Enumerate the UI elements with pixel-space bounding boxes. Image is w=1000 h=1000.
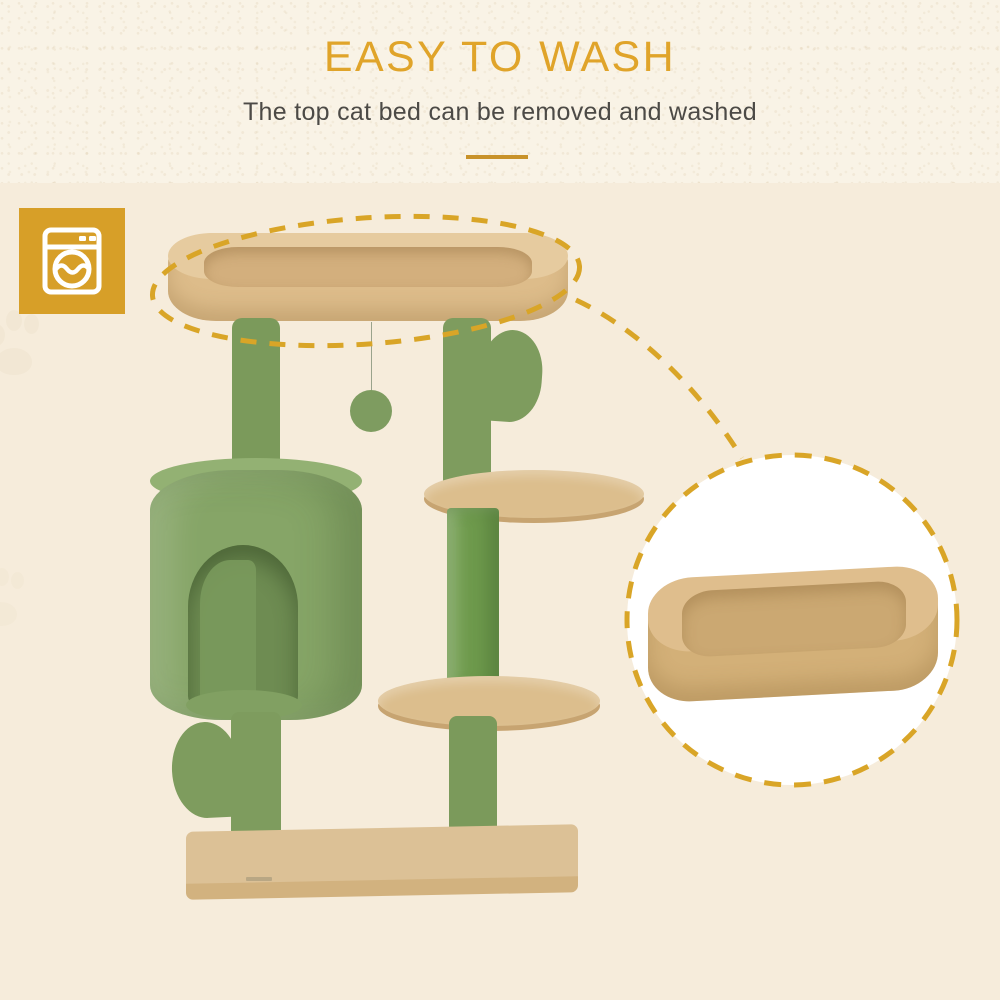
sisal-scratching-post [447,508,499,690]
product-marketing-image: EASY TO WASH The top cat bed can be remo… [0,0,1000,1000]
hanging-pom-ball [350,390,392,432]
inset-bed-inner-well [682,580,906,658]
brand-logo-mark [246,877,272,881]
pom-ball-string [371,322,372,394]
top-cat-bed [168,233,568,321]
removable-cat-bed-inset [648,568,938,698]
cat-condo-interior [200,560,256,702]
bed-inner-well [204,247,532,287]
